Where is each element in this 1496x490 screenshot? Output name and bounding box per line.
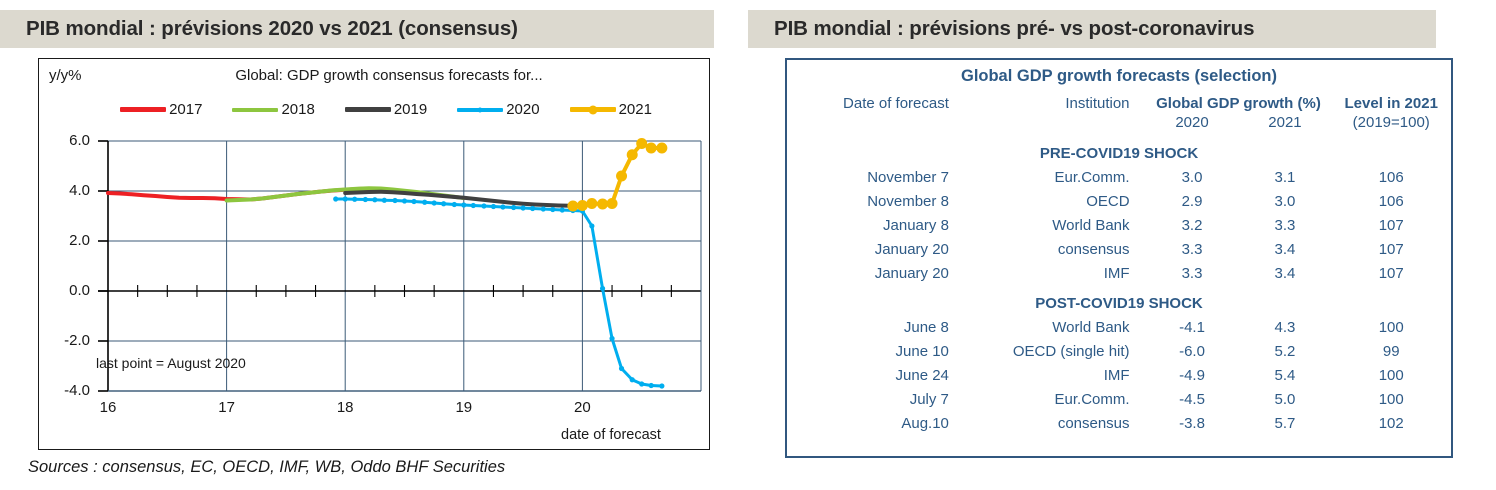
- cell-growth-2021: 5.2: [1238, 339, 1331, 363]
- series-marker-2020: [481, 203, 486, 208]
- series-marker-2021: [616, 171, 627, 182]
- col-header-institution: Institution: [973, 91, 1146, 112]
- series-marker-2020: [560, 207, 565, 212]
- gdp-forecast-chart: y/y% Global: GDP growth consensus foreca…: [38, 58, 710, 450]
- y-axis-tick-label: 0.0: [44, 282, 90, 299]
- series-marker-2020: [441, 201, 446, 206]
- series-marker-2020: [511, 205, 516, 210]
- cell-growth-2020: -6.0: [1146, 339, 1239, 363]
- col-header-growth: Global GDP growth (%): [1146, 91, 1332, 112]
- series-marker-2021: [656, 143, 667, 154]
- cell-institution: consensus: [973, 237, 1146, 261]
- series-marker-2021: [607, 198, 618, 209]
- cell-level-2021: 100: [1331, 387, 1451, 411]
- cell-date: November 8: [787, 189, 973, 213]
- series-marker-2020: [411, 199, 416, 204]
- cell-growth-2021: 3.4: [1238, 237, 1331, 261]
- col-header-level: Level in 2021: [1331, 91, 1451, 112]
- cell-date: January 20: [787, 261, 973, 285]
- series-marker-2020: [659, 383, 664, 388]
- series-marker-2020: [550, 207, 555, 212]
- y-axis-tick-label: 4.0: [44, 182, 90, 199]
- cell-institution: Eur.Comm.: [973, 387, 1146, 411]
- x-axis-caption: date of forecast: [561, 427, 661, 443]
- series-marker-2020: [500, 204, 505, 209]
- cell-growth-2021: 3.4: [1238, 261, 1331, 285]
- series-marker-2020: [333, 196, 338, 201]
- series-marker-2020: [392, 198, 397, 203]
- subcol-header-2020: 2020: [1146, 112, 1239, 135]
- table-row[interactable]: January 20IMF3.33.4107: [787, 261, 1451, 285]
- cell-institution: World Bank: [973, 213, 1146, 237]
- table-subheader-row: 2020 2021 (2019=100): [787, 112, 1451, 135]
- series-marker-2020: [530, 206, 535, 211]
- left-title-bar: PIB mondial : prévisions 2020 vs 2021 (c…: [0, 10, 714, 48]
- subheader-spacer-institution: [973, 112, 1146, 135]
- y-axis-tick-label: -2.0: [44, 332, 90, 349]
- series-marker-2021: [627, 149, 638, 160]
- series-marker-2021: [646, 143, 657, 154]
- table-row[interactable]: January 20consensus3.33.4107: [787, 237, 1451, 261]
- cell-growth-2021: 3.1: [1238, 165, 1331, 189]
- x-axis-tick-label: 18: [325, 399, 365, 416]
- cell-date: January 20: [787, 237, 973, 261]
- series-marker-2020: [600, 286, 605, 291]
- cell-date: June 24: [787, 363, 973, 387]
- cell-level-2021: 100: [1331, 315, 1451, 339]
- cell-growth-2021: 4.3: [1238, 315, 1331, 339]
- cell-growth-2021: 5.7: [1238, 411, 1331, 435]
- cell-level-2021: 99: [1331, 339, 1451, 363]
- subheader-spacer-date: [787, 112, 973, 135]
- table-section-header: PRE-COVID19 SHOCK: [787, 135, 1451, 165]
- table-header-row: Date of forecast Institution Global GDP …: [787, 91, 1451, 112]
- series-marker-2021: [586, 198, 597, 209]
- table-row[interactable]: June 8World Bank-4.14.3100: [787, 315, 1451, 339]
- cell-growth-2021: 5.0: [1238, 387, 1331, 411]
- series-marker-2020: [521, 205, 526, 210]
- cell-growth-2021: 3.3: [1238, 213, 1331, 237]
- subcol-header-level-base: (2019=100): [1331, 112, 1451, 135]
- cell-growth-2020: -4.9: [1146, 363, 1239, 387]
- cell-growth-2020: 3.3: [1146, 261, 1239, 285]
- series-marker-2021: [577, 200, 588, 211]
- cell-level-2021: 107: [1331, 261, 1451, 285]
- cell-date: Aug.10: [787, 411, 973, 435]
- table-section-header: POST-COVID19 SHOCK: [787, 285, 1451, 315]
- cell-institution: OECD (single hit): [973, 339, 1146, 363]
- table-row[interactable]: June 24IMF-4.95.4100: [787, 363, 1451, 387]
- cell-growth-2020: -4.5: [1146, 387, 1239, 411]
- series-marker-2021: [636, 138, 647, 149]
- cell-growth-2020: 3.3: [1146, 237, 1239, 261]
- series-marker-2020: [491, 204, 496, 209]
- series-marker-2020: [471, 203, 476, 208]
- right-title-bar: PIB mondial : prévisions pré- vs post-co…: [748, 10, 1436, 48]
- cell-institution: IMF: [973, 363, 1146, 387]
- cell-date: January 8: [787, 213, 973, 237]
- forecast-table-frame: Global GDP growth forecasts (selection) …: [785, 58, 1453, 458]
- chart-inner: y/y% Global: GDP growth consensus foreca…: [39, 59, 709, 449]
- cell-growth-2021: 3.0: [1238, 189, 1331, 213]
- left-panel: PIB mondial : prévisions 2020 vs 2021 (c…: [0, 0, 748, 490]
- series-marker-2020: [639, 381, 644, 386]
- series-marker-2020: [619, 366, 624, 371]
- cell-level-2021: 107: [1331, 213, 1451, 237]
- cell-level-2021: 106: [1331, 189, 1451, 213]
- x-axis-tick-label: 19: [444, 399, 484, 416]
- cell-level-2021: 100: [1331, 363, 1451, 387]
- section-label: PRE-COVID19 SHOCK: [787, 135, 1451, 165]
- series-marker-2020: [352, 197, 357, 202]
- cell-institution: consensus: [973, 411, 1146, 435]
- subcol-header-2021: 2021: [1238, 112, 1331, 135]
- left-panel-title: PIB mondial : prévisions 2020 vs 2021 (c…: [0, 17, 518, 41]
- cell-institution: Eur.Comm.: [973, 165, 1146, 189]
- cell-growth-2021: 5.4: [1238, 363, 1331, 387]
- table-row[interactable]: Aug.10consensus-3.85.7102: [787, 411, 1451, 435]
- series-marker-2020: [343, 196, 348, 201]
- cell-level-2021: 102: [1331, 411, 1451, 435]
- series-marker-2020: [372, 197, 377, 202]
- table-title: Global GDP growth forecasts (selection): [787, 60, 1451, 91]
- y-axis-tick-label: -4.0: [44, 382, 90, 399]
- series-marker-2020: [452, 202, 457, 207]
- cell-institution: IMF: [973, 261, 1146, 285]
- series-marker-2020: [461, 202, 466, 207]
- forecast-table: Global GDP growth forecasts (selection) …: [787, 60, 1451, 435]
- series-marker-2021: [597, 199, 608, 210]
- series-marker-2020: [422, 200, 427, 205]
- series-marker-2020: [589, 223, 594, 228]
- table-row[interactable]: July 7Eur.Comm.-4.55.0100: [787, 387, 1451, 411]
- x-axis-tick-label: 17: [207, 399, 247, 416]
- chart-annotation-note: last point = August 2020: [96, 355, 246, 371]
- series-line-2020: [336, 199, 662, 386]
- chart-plot-area: [39, 59, 711, 451]
- cell-level-2021: 106: [1331, 165, 1451, 189]
- cell-institution: OECD: [973, 189, 1146, 213]
- sources-note: Sources : consensus, EC, OECD, IMF, WB, …: [28, 458, 505, 477]
- series-marker-2021: [567, 201, 578, 212]
- col-header-date: Date of forecast: [787, 91, 973, 112]
- section-label: POST-COVID19 SHOCK: [787, 285, 1451, 315]
- table-row[interactable]: January 8World Bank3.23.3107: [787, 213, 1451, 237]
- table-row[interactable]: November 7Eur.Comm.3.03.1106: [787, 165, 1451, 189]
- cell-date: June 10: [787, 339, 973, 363]
- table-row[interactable]: November 8OECD2.93.0106: [787, 189, 1451, 213]
- y-axis-tick-label: 2.0: [44, 232, 90, 249]
- right-panel: PIB mondial : prévisions pré- vs post-co…: [748, 0, 1496, 490]
- cell-growth-2020: 3.2: [1146, 213, 1239, 237]
- series-marker-2020: [649, 383, 654, 388]
- cell-level-2021: 107: [1331, 237, 1451, 261]
- cell-date: November 7: [787, 165, 973, 189]
- cell-institution: World Bank: [973, 315, 1146, 339]
- cell-date: June 8: [787, 315, 973, 339]
- x-axis-tick-label: 16: [88, 399, 128, 416]
- forecast-table-body: PRE-COVID19 SHOCKNovember 7Eur.Comm.3.03…: [787, 135, 1451, 435]
- series-marker-2020: [382, 198, 387, 203]
- cell-growth-2020: -3.8: [1146, 411, 1239, 435]
- table-title-row: Global GDP growth forecasts (selection): [787, 60, 1451, 91]
- series-marker-2020: [432, 200, 437, 205]
- cell-growth-2020: -4.1: [1146, 315, 1239, 339]
- series-marker-2020: [630, 377, 635, 382]
- cell-date: July 7: [787, 387, 973, 411]
- y-axis-tick-label: 6.0: [44, 132, 90, 149]
- cell-growth-2020: 2.9: [1146, 189, 1239, 213]
- x-axis-tick-label: 20: [562, 399, 602, 416]
- table-row[interactable]: June 10OECD (single hit)-6.05.299: [787, 339, 1451, 363]
- series-marker-2020: [363, 197, 368, 202]
- right-panel-title: PIB mondial : prévisions pré- vs post-co…: [748, 17, 1254, 41]
- series-marker-2020: [402, 198, 407, 203]
- cell-growth-2020: 3.0: [1146, 165, 1239, 189]
- series-marker-2020: [609, 336, 614, 341]
- series-marker-2020: [541, 206, 546, 211]
